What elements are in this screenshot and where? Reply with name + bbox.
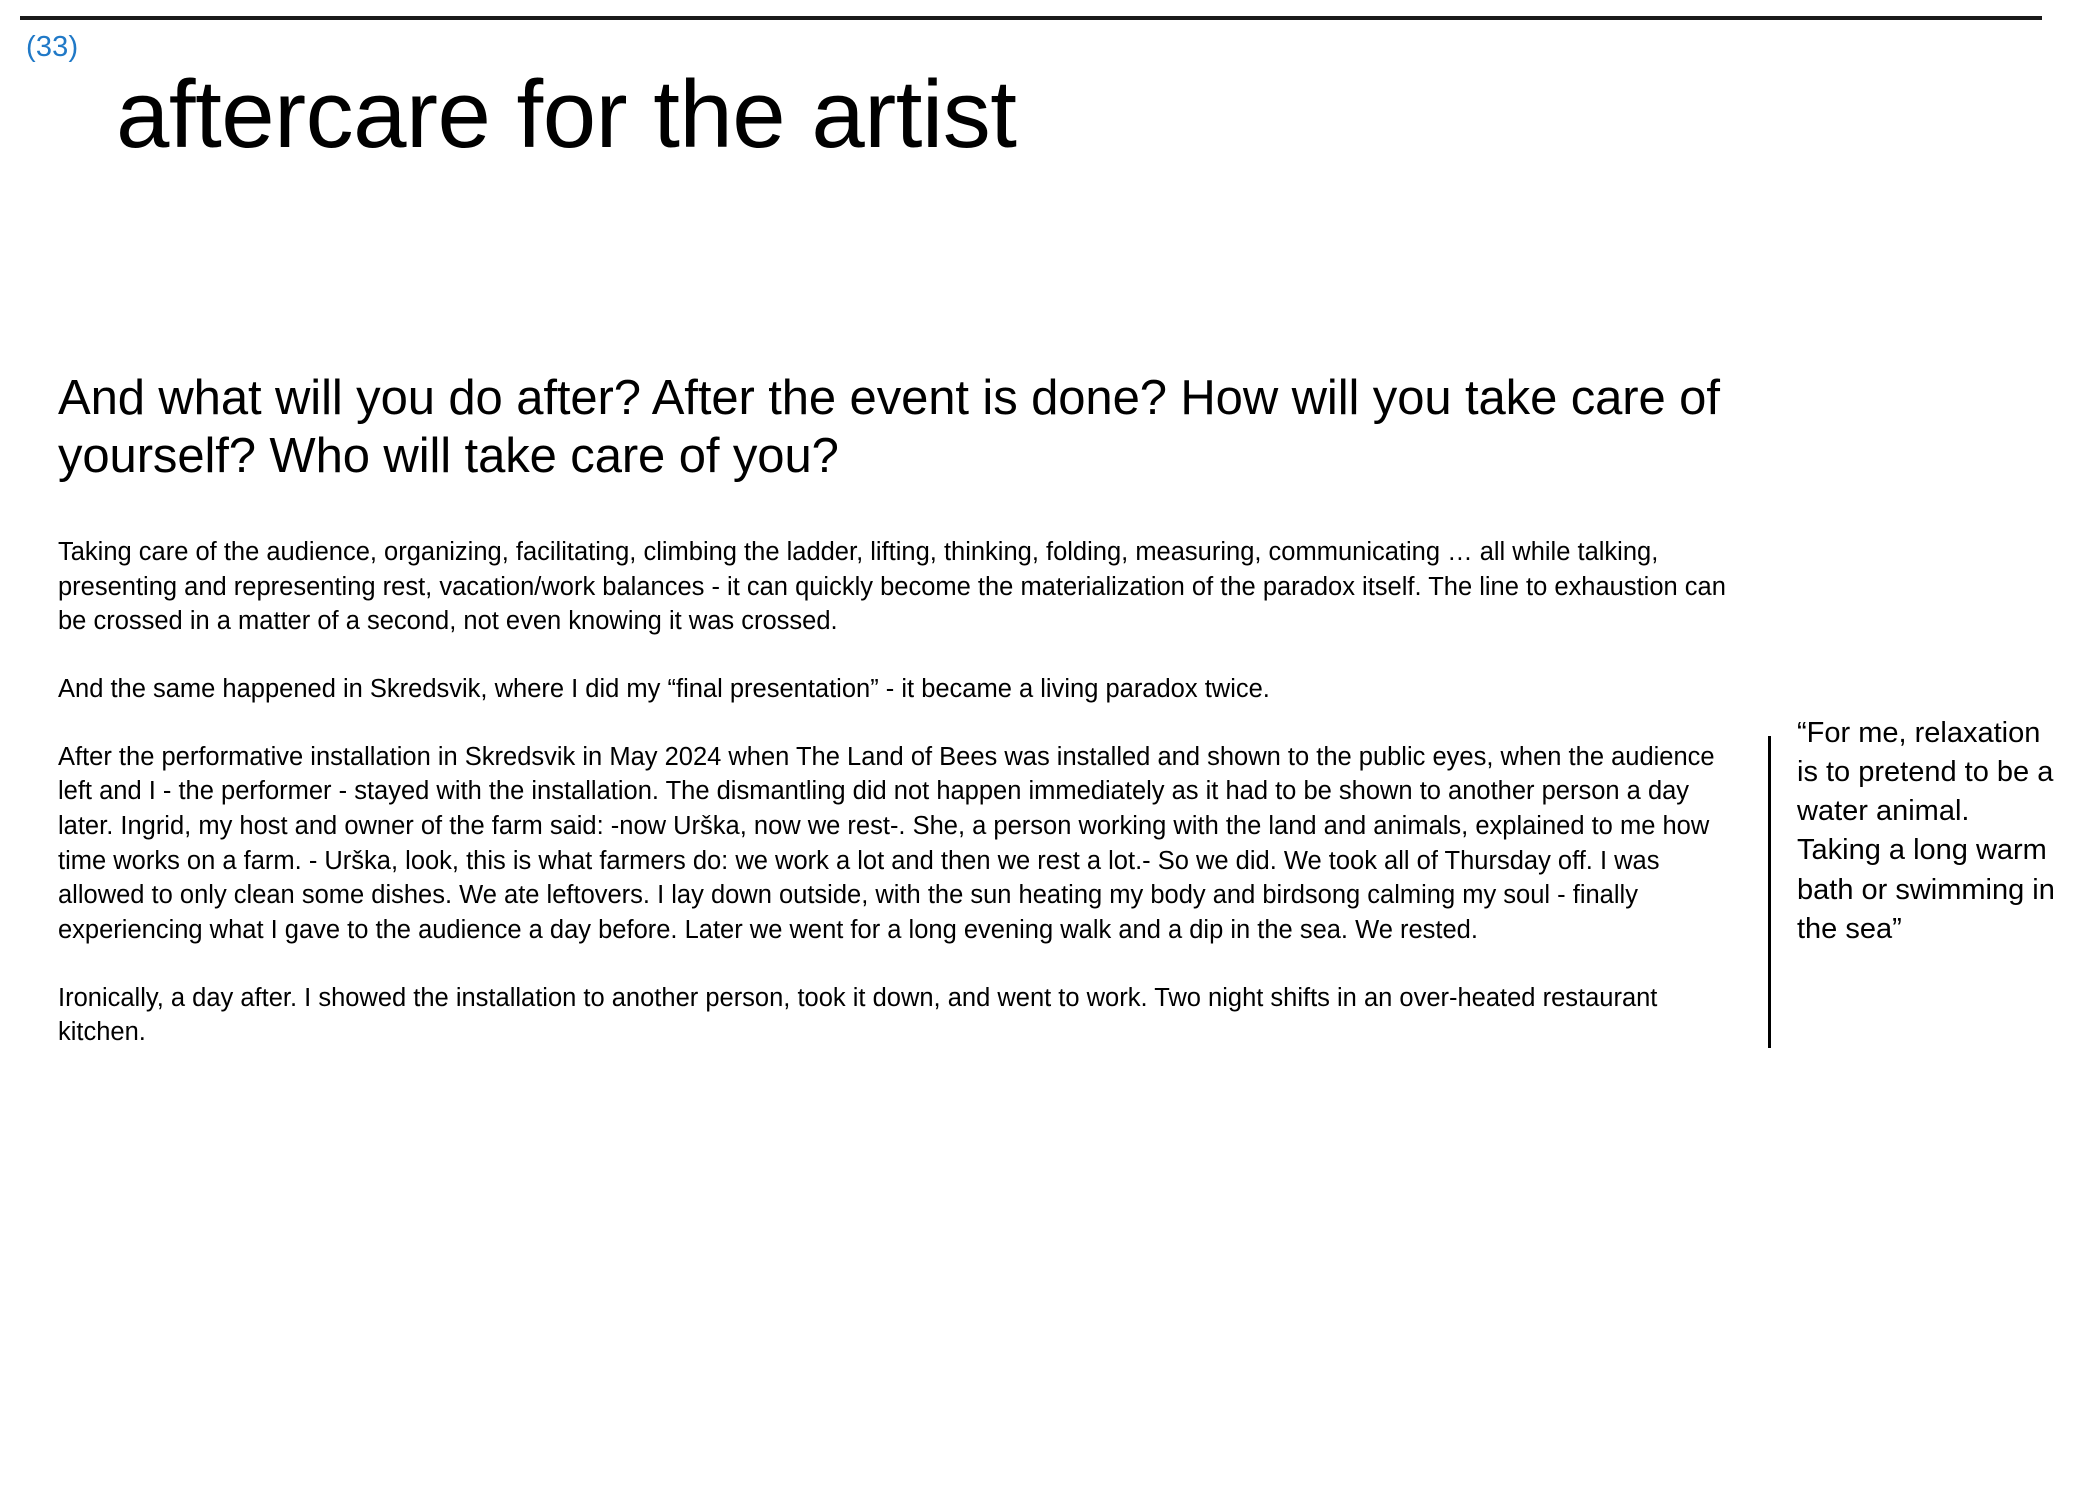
body-paragraph-2: And the same happened in Skredsvik, wher…	[58, 672, 1750, 707]
pullquote-text: “For me, relaxation is to pretend to be …	[1771, 714, 2058, 1048]
body-paragraph-1: Taking care of the audience, organizing,…	[58, 535, 1750, 639]
page-number: (33)	[26, 33, 78, 62]
body-paragraph-4: Ironically, a day after. I showed the in…	[58, 981, 1750, 1050]
slide-page: (33) aftercare for the artist And what w…	[0, 0, 2078, 1488]
pullquote: “For me, relaxation is to pretend to be …	[1768, 736, 2058, 1048]
body-paragraph-3: After the performative installation in S…	[58, 740, 1750, 948]
slide-title: aftercare for the artist	[116, 63, 1016, 167]
header-divider-rule	[20, 16, 2042, 20]
body-text-column: Taking care of the audience, organizing,…	[58, 535, 1750, 1050]
main-heading: And what will you do after? After the ev…	[58, 370, 1738, 486]
